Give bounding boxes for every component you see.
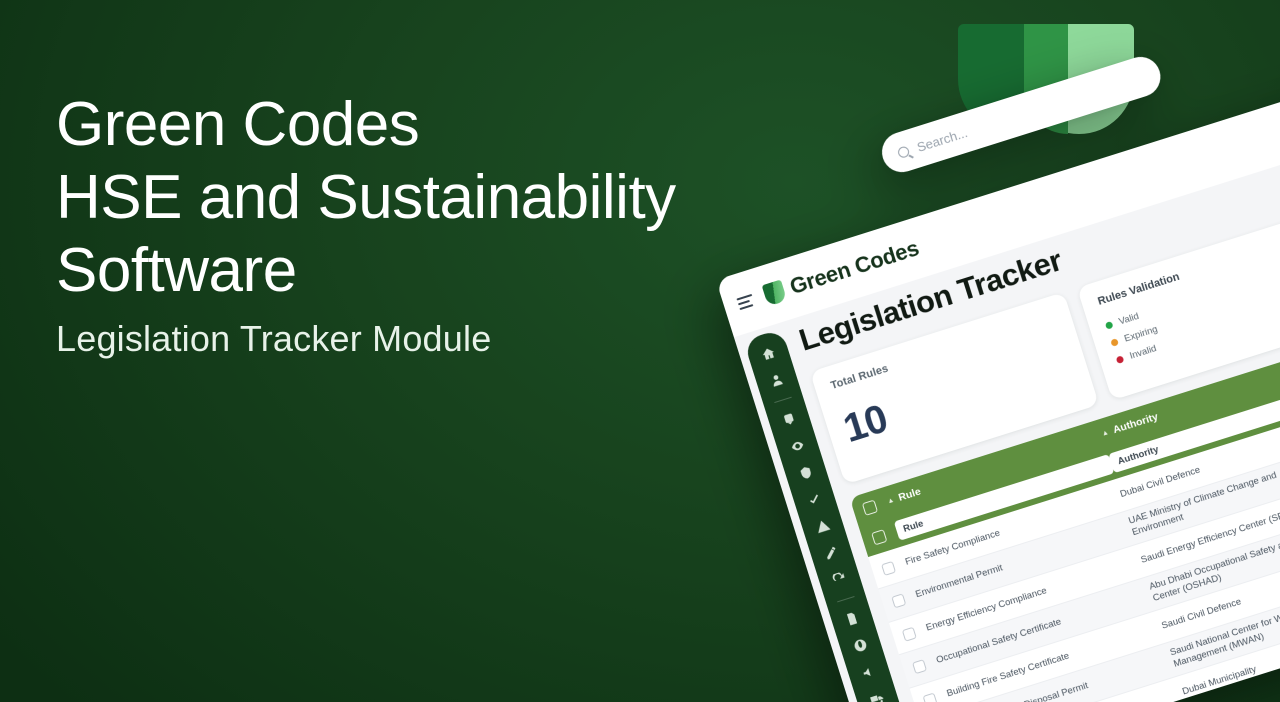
rules-validation-left: Rules Validation Valid Expiring (1096, 271, 1204, 382)
column-label: Rule (897, 486, 922, 504)
globe-icon[interactable] (850, 635, 870, 655)
search-icon (897, 145, 911, 159)
column-label: Authority (1112, 411, 1160, 436)
refresh-icon[interactable] (830, 570, 850, 590)
app-logo-icon (762, 279, 788, 306)
check-icon[interactable] (804, 490, 824, 510)
rail-divider (837, 596, 854, 602)
row-select-checkbox[interactable] (922, 692, 937, 702)
total-rules-value: 10 (838, 339, 1075, 452)
truck-icon[interactable] (867, 689, 887, 702)
hero-title-line-3: Software (56, 236, 297, 305)
user-icon[interactable] (767, 370, 787, 390)
search-placeholder: Search... (915, 125, 969, 155)
hamburger-line (736, 294, 752, 301)
shield-icon[interactable] (796, 463, 816, 483)
row-select-checkbox[interactable] (891, 593, 906, 608)
home-icon[interactable] (758, 344, 778, 364)
legend-label: Invalid (1128, 343, 1158, 362)
eye-icon[interactable] (788, 436, 808, 456)
hero-title-line-1: Green Codes (56, 90, 419, 159)
warning-icon[interactable] (813, 516, 833, 536)
badge-icon[interactable] (779, 409, 799, 429)
legend-label: Valid (1118, 311, 1141, 328)
megaphone-icon[interactable] (859, 662, 879, 682)
row-select-checkbox[interactable] (881, 560, 896, 575)
invalid-status-dot (1116, 355, 1125, 364)
validation-legend: Valid Expiring Invalid (1104, 296, 1199, 366)
row-select-checkbox[interactable] (912, 659, 927, 674)
legend-label: Expiring (1123, 324, 1159, 345)
select-all-checkbox[interactable] (862, 499, 878, 515)
document-icon[interactable] (842, 609, 862, 629)
sort-arrow-icon: ▲ (1101, 429, 1110, 438)
expiring-status-dot (1110, 338, 1119, 347)
hamburger-icon[interactable] (736, 291, 757, 313)
sort-arrow-icon: ▲ (886, 496, 895, 505)
hero-title-line-2: HSE and Sustainability (56, 163, 676, 232)
pencil-icon[interactable] (821, 543, 841, 563)
row-select-checkbox[interactable] (871, 529, 887, 545)
rail-divider (774, 397, 791, 403)
row-select-checkbox[interactable] (902, 626, 917, 641)
hamburger-line (739, 304, 753, 310)
valid-status-dot (1105, 321, 1114, 330)
